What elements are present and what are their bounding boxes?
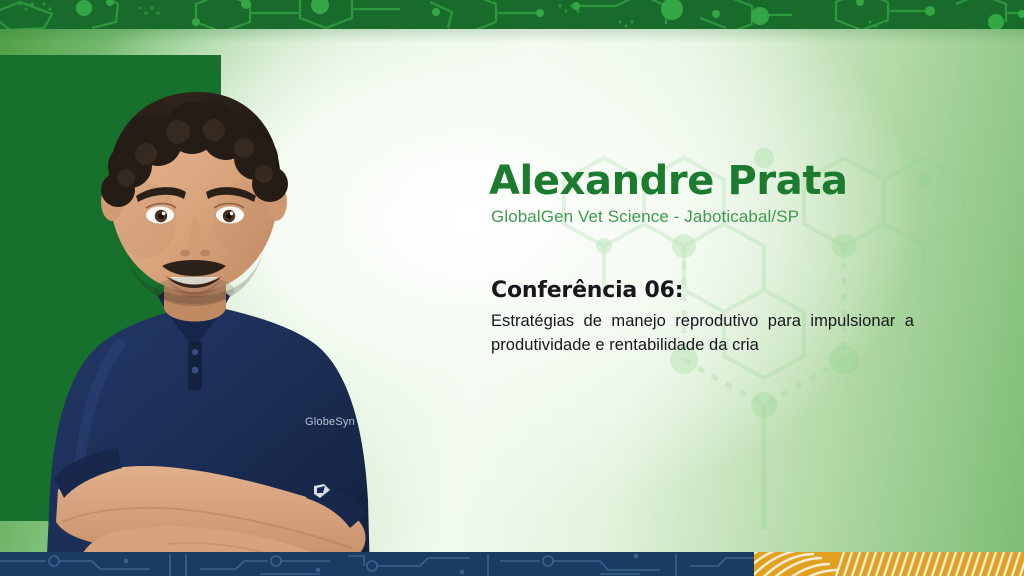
speaker-text-column: Alexandre Prata GlobalGen Vet Science - …: [489, 158, 914, 357]
speaker-photo: [18, 70, 488, 576]
speaker-slide: GlobeSyn Alexandre Prata GlobalGen Vet S…: [0, 0, 1024, 576]
speaker-affiliation: GlobalGen Vet Science - Jaboticabal/SP: [491, 206, 914, 228]
conference-block: Conferência 06: Estratégias de manejo re…: [489, 277, 914, 357]
speaker-name: Alexandre Prata: [489, 158, 914, 204]
conference-description: Estratégias de manejo reprodutivo para i…: [491, 309, 914, 357]
top-band-fade: [0, 29, 1024, 43]
orange-fingerprint-block: [754, 552, 1024, 576]
conference-title: Conferência 06:: [491, 277, 914, 305]
shirt-logo-text: GlobeSyn: [305, 416, 355, 428]
top-molecular-band: [0, 0, 1024, 29]
